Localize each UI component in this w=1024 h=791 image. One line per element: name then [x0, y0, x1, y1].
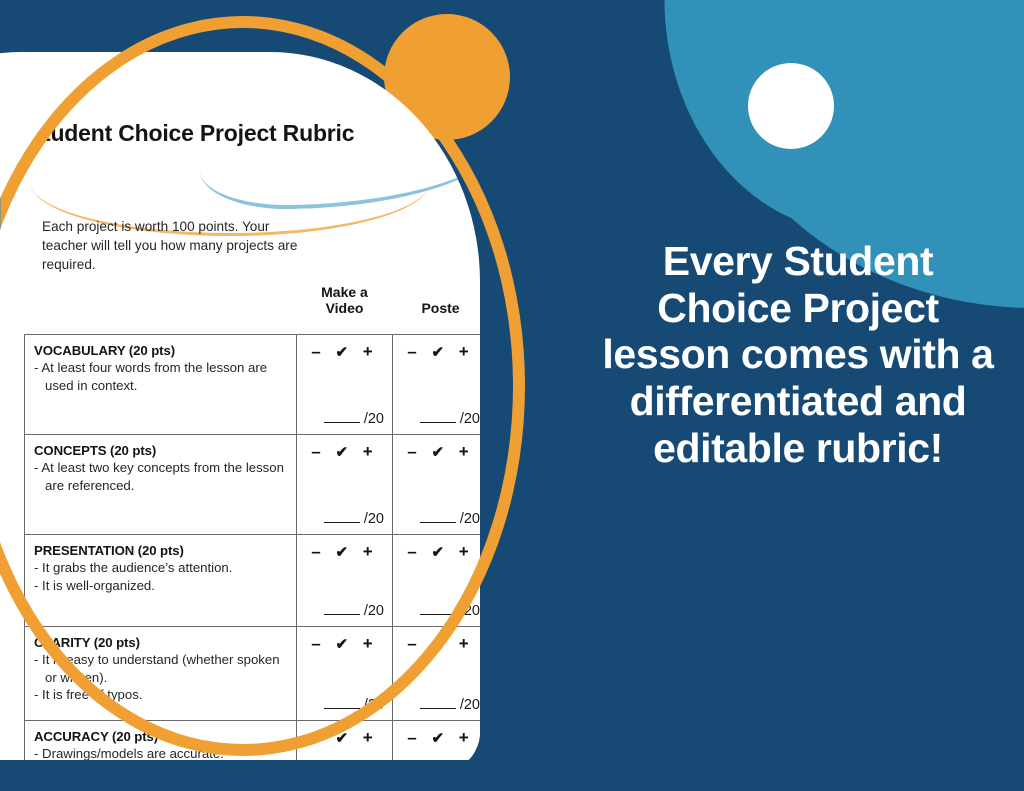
score-underline[interactable] [324, 522, 360, 523]
score-cell-poster[interactable]: – ✔ + /20 [393, 627, 481, 721]
score-underline[interactable] [324, 614, 360, 615]
score-blank[interactable]: /20 [420, 697, 480, 713]
mark-options[interactable]: – ✔ + [297, 728, 392, 748]
score-underline[interactable] [420, 708, 456, 709]
score-underline[interactable] [420, 522, 456, 523]
minus-mark[interactable]: – [311, 634, 325, 653]
criterion-line: - At least four words from the lesson ar… [34, 359, 287, 393]
criterion-description: - At least four words from the lesson ar… [34, 359, 287, 393]
score-blank[interactable]: /20 [420, 603, 480, 619]
score-blank[interactable]: /20 [420, 511, 480, 527]
mark-options[interactable]: – ✔ + [393, 542, 480, 562]
plus-mark[interactable]: + [363, 442, 378, 461]
background-mask-bottom [0, 760, 640, 791]
criterion-cell-concepts: CONCEPTS (20 pts) - At least two key con… [25, 435, 297, 535]
plus-mark[interactable]: + [363, 634, 378, 653]
criterion-line: - It is free of typos. [34, 686, 287, 703]
table-row: VOCABULARY (20 pts) - At least four word… [25, 335, 481, 435]
score-suffix: /20 [364, 511, 384, 527]
rubric-document-card: tudent Choice Project Rubric Each projec… [0, 52, 480, 772]
mark-options[interactable]: – ✔ + [393, 342, 480, 362]
minus-mark[interactable]: – [407, 342, 421, 361]
score-suffix: /20 [460, 411, 480, 427]
score-cell-video[interactable]: – ✔ + /20 [297, 335, 393, 435]
plus-mark[interactable]: + [363, 542, 378, 561]
criterion-line: - It is well-organized. [34, 577, 287, 594]
check-mark[interactable]: ✔ [431, 544, 449, 561]
minus-mark[interactable]: – [407, 634, 421, 653]
criterion-line: - At least two key concepts from the les… [34, 459, 287, 493]
criterion-title: CONCEPTS (20 pts) [34, 443, 287, 458]
minus-mark[interactable]: – [311, 342, 325, 361]
table-row: PRESENTATION (20 pts) - It grabs the aud… [25, 535, 481, 627]
mark-options[interactable]: – ✔ + [297, 342, 392, 362]
criterion-title: ACCURACY (20 pts) [34, 729, 287, 744]
score-cell-video[interactable]: – ✔ + /20 [297, 435, 393, 535]
score-suffix: /20 [460, 603, 480, 619]
plus-mark[interactable]: + [459, 442, 474, 461]
score-suffix: /20 [364, 697, 384, 713]
score-cell-poster[interactable]: – ✔ + /20 [393, 535, 481, 627]
minus-mark[interactable]: – [311, 442, 325, 461]
white-circle-decoration [748, 63, 834, 149]
check-mark[interactable]: ✔ [431, 730, 449, 747]
check-mark[interactable]: ✔ [431, 636, 449, 653]
check-mark[interactable]: ✔ [335, 636, 353, 653]
score-suffix: /20 [364, 603, 384, 619]
plus-mark[interactable]: + [459, 542, 474, 561]
minus-mark[interactable]: – [407, 728, 421, 747]
criteria-header-cell [25, 284, 297, 335]
rubric-document-content: tudent Choice Project Rubric Each projec… [0, 52, 480, 772]
header-line-1: Make a [321, 284, 368, 300]
score-blank[interactable]: /20 [324, 697, 384, 713]
column-header-make-a-video: Make a Video [297, 284, 393, 335]
check-mark[interactable]: ✔ [335, 544, 353, 561]
table-row: CONCEPTS (20 pts) - At least two key con… [25, 435, 481, 535]
criterion-cell-presentation: PRESENTATION (20 pts) - It grabs the aud… [25, 535, 297, 627]
score-cell-video[interactable]: – ✔ + /20 [297, 535, 393, 627]
criterion-description: - It is easy to understand (whether spok… [34, 651, 287, 702]
plus-mark[interactable]: + [459, 342, 474, 361]
criterion-description: - It grabs the audience’s attention. - I… [34, 559, 287, 593]
document-intro-text: Each project is worth 100 points. Your t… [42, 217, 300, 274]
mark-options[interactable]: – ✔ + [393, 728, 480, 748]
check-mark[interactable]: ✔ [335, 444, 353, 461]
score-underline[interactable] [324, 422, 360, 423]
score-suffix: /20 [460, 697, 480, 713]
criterion-title: PRESENTATION (20 pts) [34, 543, 287, 558]
score-underline[interactable] [420, 422, 456, 423]
plus-mark[interactable]: + [363, 728, 378, 747]
header-line-1: Poste [421, 300, 459, 316]
mark-options[interactable]: – ✔ + [297, 634, 392, 654]
mark-options[interactable]: – ✔ + [393, 634, 480, 654]
rubric-table: Make a Video Poste VOCAB [24, 284, 480, 772]
check-mark[interactable]: ✔ [431, 344, 449, 361]
criterion-line: - It grabs the audience’s attention. [34, 559, 287, 576]
plus-mark[interactable]: + [459, 728, 474, 747]
mark-options[interactable]: – ✔ + [297, 542, 392, 562]
score-cell-video[interactable]: – ✔ + /20 [297, 627, 393, 721]
criterion-title: CLARITY (20 pts) [34, 635, 287, 650]
check-mark[interactable]: ✔ [335, 344, 353, 361]
score-blank[interactable]: /20 [324, 603, 384, 619]
score-underline[interactable] [420, 614, 456, 615]
score-blank[interactable]: /20 [324, 411, 384, 427]
criterion-description: - At least two key concepts from the les… [34, 459, 287, 493]
criterion-cell-clarity: CLARITY (20 pts) - It is easy to underst… [25, 627, 297, 721]
minus-mark[interactable]: – [407, 442, 421, 461]
score-underline[interactable] [324, 708, 360, 709]
check-mark[interactable]: ✔ [335, 730, 353, 747]
check-mark[interactable]: ✔ [431, 444, 449, 461]
table-header-row: Make a Video Poste [25, 284, 481, 335]
headline-text: Every Student Choice Project lesson come… [596, 238, 1000, 472]
plus-mark[interactable]: + [459, 634, 474, 653]
table-row: CLARITY (20 pts) - It is easy to underst… [25, 627, 481, 721]
score-blank[interactable]: /20 [420, 411, 480, 427]
plus-mark[interactable]: + [363, 342, 378, 361]
column-header-poster: Poste [393, 284, 481, 335]
score-suffix: /20 [364, 411, 384, 427]
mark-options[interactable]: – ✔ + [297, 442, 392, 462]
rubric-table-body: VOCABULARY (20 pts) - At least four word… [25, 335, 481, 772]
minus-mark[interactable]: – [407, 542, 421, 561]
score-suffix: /20 [460, 511, 480, 527]
mark-options[interactable]: – ✔ + [393, 442, 480, 462]
criterion-title: VOCABULARY (20 pts) [34, 343, 287, 358]
minus-mark[interactable]: – [311, 728, 325, 747]
score-cell-poster[interactable]: – ✔ + /20 [393, 435, 481, 535]
criterion-cell-vocabulary: VOCABULARY (20 pts) - At least four word… [25, 335, 297, 435]
criterion-line: - It is easy to understand (whether spok… [34, 651, 287, 685]
slide-canvas: tudent Choice Project Rubric Each projec… [0, 0, 1024, 791]
header-line-2: Video [326, 300, 364, 316]
score-blank[interactable]: /20 [324, 511, 384, 527]
score-cell-poster[interactable]: – ✔ + /20 [393, 335, 481, 435]
minus-mark[interactable]: – [311, 542, 325, 561]
